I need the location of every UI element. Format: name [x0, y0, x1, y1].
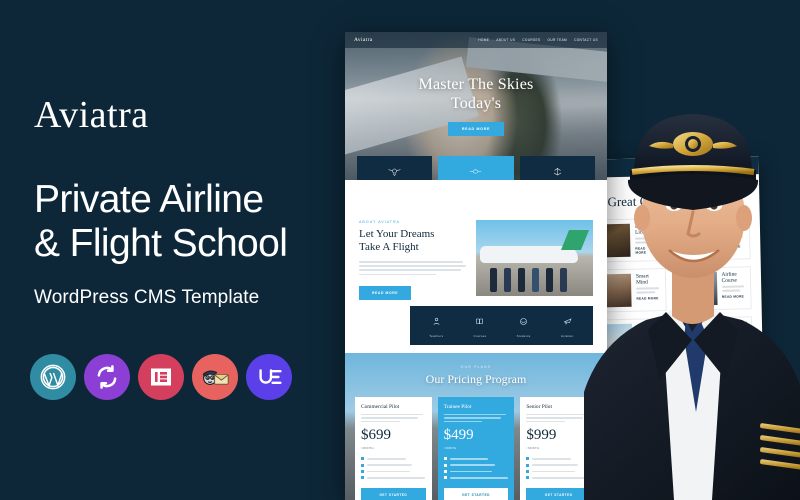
wing-emblem-icon — [443, 163, 508, 180]
about-title-line-1: Let Your Dreams — [359, 228, 467, 241]
hero-title: Master The Skies Today's — [345, 76, 607, 113]
pricing-card-trainee-pilot[interactable]: Trainee Pilot $499 / MONTH GET STARTED — [438, 397, 515, 500]
plan-features — [444, 457, 509, 479]
check-icon — [526, 457, 529, 460]
badge-wordpress[interactable] — [30, 354, 76, 400]
mailpoet-icon — [200, 365, 230, 389]
hero-section: Aviatra HOME ABOUT US COURSES OUR TEAM C… — [345, 32, 607, 180]
badge-unlimited-elements[interactable] — [246, 354, 292, 400]
pricing-eyebrow: OUR PLANS — [355, 365, 597, 369]
feature-card-cabin-training[interactable]: Cabin Training — [357, 156, 432, 180]
check-icon — [444, 457, 447, 460]
book-icon — [458, 313, 502, 331]
plan-period: / MONTH — [361, 446, 426, 450]
badge-mailpoet[interactable] — [192, 354, 238, 400]
plan-cta-button[interactable]: GET STARTED — [361, 488, 426, 500]
pricing-card-commercial-pilot[interactable]: Commercial Pilot $699 / MONTH GET STARTE… — [355, 397, 432, 500]
promo-banner: Aviatra Private Airline & Flight School … — [0, 0, 800, 500]
check-icon — [444, 470, 447, 473]
brand-title: Aviatra — [34, 96, 344, 134]
plan-features — [361, 457, 426, 479]
pricing-section: OUR PLANS Our Pricing Program Commercial… — [345, 353, 607, 500]
plan-description — [361, 414, 426, 423]
check-icon — [526, 470, 529, 473]
nav-item-courses[interactable]: COURSES — [522, 38, 540, 42]
check-icon — [526, 476, 529, 479]
page-title-line-1: Private Airline — [34, 178, 344, 222]
stat-label: Students — [502, 334, 546, 338]
stat-students: Students — [502, 313, 546, 338]
about-eyebrow: ABOUT AVIATRA — [359, 220, 467, 224]
wordpress-icon — [39, 363, 67, 391]
page-title-line-2: & Flight School — [34, 222, 344, 266]
check-icon — [361, 457, 364, 460]
plan-name: Trainee Pilot — [444, 404, 509, 410]
hero-cta-button[interactable]: READ MORE — [448, 122, 504, 136]
stat-courses: Courses — [458, 313, 502, 338]
nav-item-home[interactable]: HOME — [478, 38, 489, 42]
check-icon — [361, 464, 364, 467]
nav-logo[interactable]: Aviatra — [354, 37, 373, 43]
check-icon — [444, 464, 447, 467]
badge-wings-icon — [362, 163, 427, 180]
about-title: Let Your Dreams Take A Flight — [359, 228, 467, 254]
plan-description — [444, 414, 509, 423]
navbar: Aviatra HOME ABOUT US COURSES OUR TEAM C… — [345, 32, 607, 48]
elementor-icon — [149, 365, 173, 389]
stats-bar: Teachers Courses S — [410, 306, 593, 345]
mockup-home-page[interactable]: Aviatra HOME ABOUT US COURSES OUR TEAM C… — [345, 32, 607, 500]
plan-price: $499 — [444, 428, 509, 443]
plan-price: $699 — [361, 428, 426, 443]
technology-badges — [30, 354, 292, 400]
student-icon — [502, 313, 546, 331]
promo-text-block: Aviatra Private Airline & Flight School … — [34, 96, 344, 309]
nav-item-about[interactable]: ABOUT US — [496, 38, 515, 42]
page-subtitle: WordPress CMS Template — [34, 287, 344, 309]
check-icon — [444, 476, 447, 479]
plan-cta-button[interactable]: GET STARTED — [444, 488, 509, 500]
hero-title-line-2: Today's — [345, 95, 607, 114]
feature-cards: Cabin Training Crew Training — [357, 156, 595, 180]
feature-card-crew-training[interactable]: Crew Training — [438, 156, 513, 180]
badge-elementor[interactable] — [138, 354, 184, 400]
hero-content: Master The Skies Today's READ MORE — [345, 76, 607, 136]
teacher-icon — [414, 313, 458, 331]
hero-title-line-1: Master The Skies — [345, 76, 607, 95]
badge-sync[interactable] — [84, 354, 130, 400]
about-title-line-2: Take A Flight — [359, 241, 467, 254]
unlimited-elements-icon — [255, 366, 283, 388]
page-title: Private Airline & Flight School — [34, 178, 344, 265]
pricing-title: Our Pricing Program — [355, 372, 597, 387]
pilot-photo — [574, 20, 800, 500]
about-section: ABOUT AVIATRA Let Your Dreams Take A Fli… — [345, 180, 607, 353]
check-icon — [361, 476, 364, 479]
nav-item-our-team[interactable]: OUR TEAM — [547, 38, 567, 42]
stat-teachers: Teachers — [414, 313, 458, 338]
plan-period: / MONTH — [444, 446, 509, 450]
sync-icon — [94, 364, 120, 390]
about-cta-button[interactable]: READ MORE — [359, 286, 411, 300]
stat-label: Courses — [458, 334, 502, 338]
check-icon — [361, 470, 364, 473]
pricing-cards: Commercial Pilot $699 / MONTH GET STARTE… — [355, 397, 597, 500]
about-description — [359, 261, 467, 275]
plan-name: Commercial Pilot — [361, 404, 426, 410]
check-icon — [526, 464, 529, 467]
stat-label: Teachers — [414, 334, 458, 338]
